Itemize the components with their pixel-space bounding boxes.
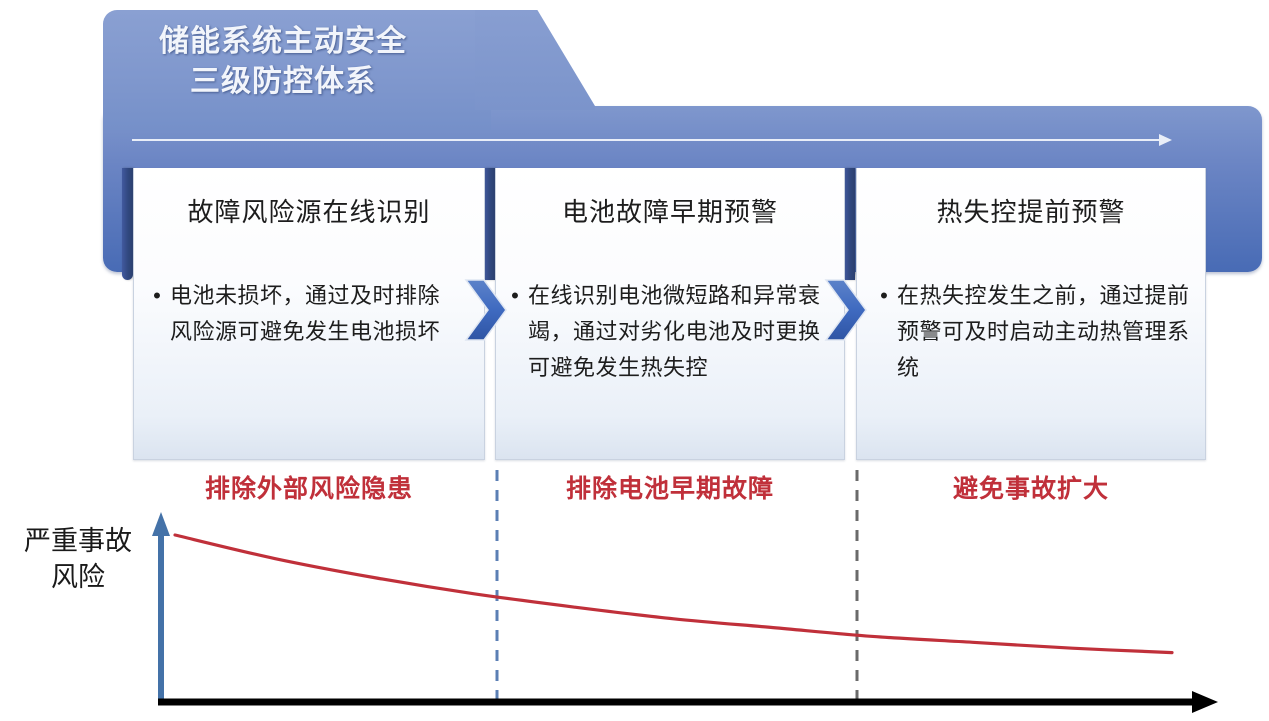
panel-divider-1 (484, 168, 495, 280)
progress-arrow-shaft (132, 139, 1160, 141)
chart-series-risk (175, 535, 1172, 653)
stage-2-title: 电池故障早期预警 (496, 192, 844, 229)
stage-2-body: • 在线识别电池微短路和异常衰竭，通过对劣化电池及时更换可避免发生热失控 (502, 278, 832, 386)
stage-panel-3[interactable]: 热失控提前预警 • 在热失控发生之前，通过提前预警可及时启动主动热管理系统 (856, 168, 1206, 460)
stage-panel-2[interactable]: 电池故障早期预警 • 在线识别电池微短路和异常衰竭，通过对劣化电池及时更换可避免… (495, 168, 845, 460)
stage-1-title: 故障风险源在线识别 (134, 192, 484, 229)
chart-y-axis-label: 严重事故 风险 (8, 523, 148, 595)
page-title: 储能系统主动安全 三级防控体系 (118, 22, 448, 102)
banner-notch-shape (475, 10, 595, 110)
risk-decay-chart: 严重事故 风险 (0, 460, 1269, 721)
panel-divider-left (122, 168, 133, 280)
stage-3-title: 热失控提前预警 (857, 192, 1205, 229)
chart-svg (0, 460, 1269, 721)
panel-divider-2 (844, 168, 855, 280)
stage-1-body: • 电池未损坏，通过及时排除风险源可避免发生电池损坏 (144, 278, 462, 350)
chevron-right-icon (824, 278, 868, 342)
stage-1-description: 电池未损坏，通过及时排除风险源可避免发生电池损坏 (170, 278, 462, 350)
progress-arrow-icon (132, 133, 1172, 149)
bullet-marker-icon: • (144, 278, 170, 314)
slide-canvas: 储能系统主动安全 三级防控体系 故障风险源在线识别 • 电池未损坏，通过及时排除… (0, 0, 1269, 721)
stage-panel-1[interactable]: 故障风险源在线识别 • 电池未损坏，通过及时排除风险源可避免发生电池损坏 (133, 168, 485, 460)
chevron-right-icon (464, 278, 508, 342)
progress-arrow-head (1159, 134, 1172, 146)
bullet-marker-icon: • (871, 278, 897, 314)
chart-y-axis (152, 512, 170, 702)
stage-3-body: • 在热失控发生之前，通过提前预警可及时启动主动热管理系统 (871, 278, 1191, 386)
stage-2-description: 在线识别电池微短路和异常衰竭，通过对劣化电池及时更换可避免发生热失控 (528, 278, 832, 386)
chart-x-axis (158, 691, 1218, 713)
stage-3-description: 在热失控发生之前，通过提前预警可及时启动主动热管理系统 (897, 278, 1191, 386)
